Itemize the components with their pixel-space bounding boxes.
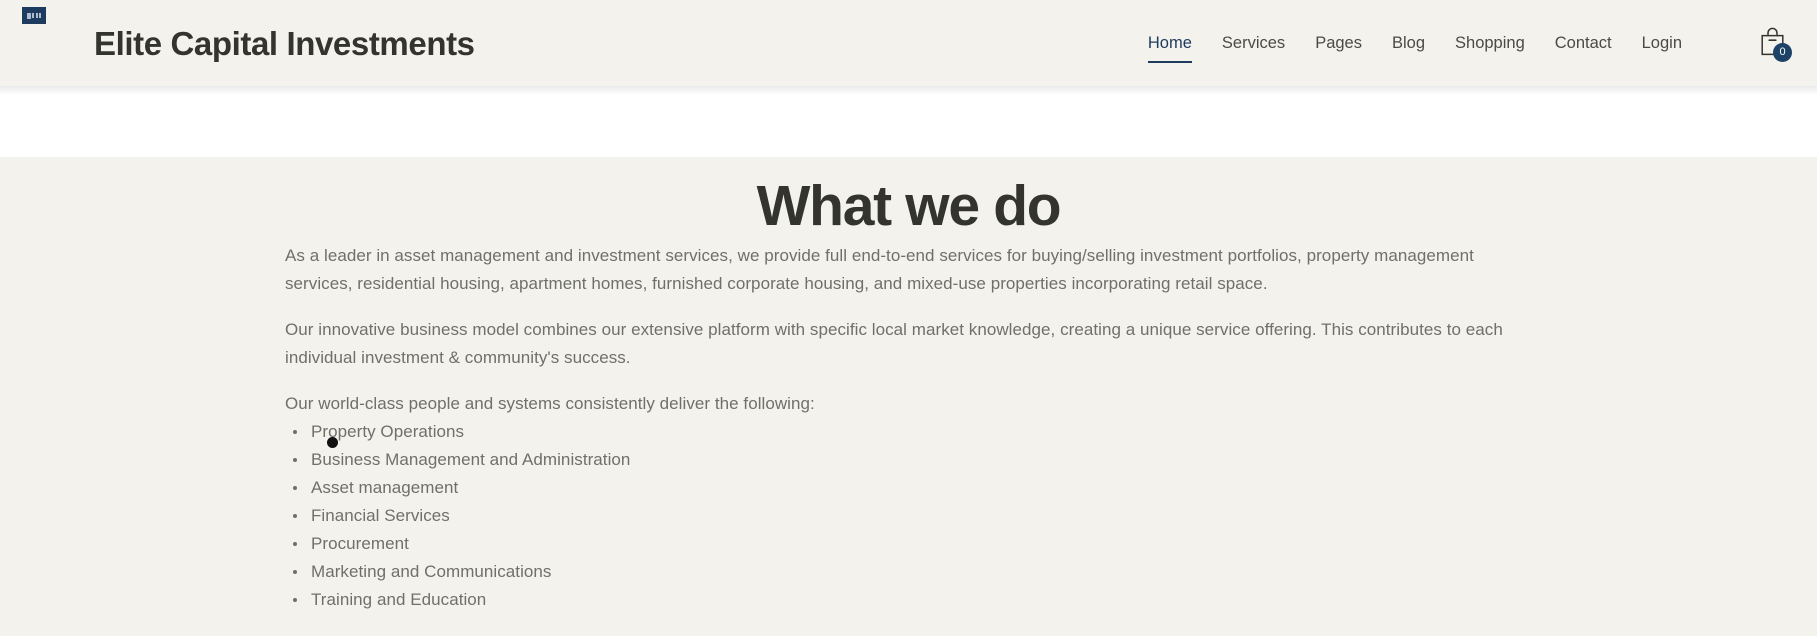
nav-item-blog[interactable]: Blog [1377, 32, 1440, 54]
list-item: Business Management and Administration [285, 446, 1536, 474]
what-we-do-section: What we do As a leader in asset manageme… [0, 157, 1817, 614]
header-spacer-band [0, 86, 1817, 157]
nav-item-shopping[interactable]: Shopping [1440, 32, 1540, 54]
header-right-cluster: Home Services Pages Blog Shopping Contac… [1133, 24, 1789, 62]
intro-paragraph-2: Our innovative business model combines o… [285, 316, 1536, 372]
list-item: Marketing and Communications [285, 558, 1536, 586]
nav-item-services[interactable]: Services [1207, 32, 1300, 54]
main-navigation: Home Services Pages Blog Shopping Contac… [1133, 32, 1697, 54]
list-item: Asset management [285, 474, 1536, 502]
list-item: Property Operations [285, 418, 1536, 446]
site-header: Elite Capital Investments Home Services … [0, 0, 1817, 86]
page-title: What we do [0, 171, 1817, 242]
content-body: As a leader in asset management and inve… [281, 242, 1536, 614]
brand-title[interactable]: Elite Capital Investments [94, 27, 475, 60]
nav-item-home[interactable]: Home [1133, 32, 1207, 54]
list-item: Procurement [285, 530, 1536, 558]
placeholder-glyph [27, 13, 42, 19]
nav-item-login[interactable]: Login [1627, 32, 1697, 54]
services-list: Property Operations Business Management … [285, 418, 1536, 614]
services-lead-in: Our world-class people and systems consi… [285, 390, 1536, 418]
list-item: Training and Education [285, 586, 1536, 614]
intro-paragraph-1: As a leader in asset management and inve… [285, 242, 1536, 298]
nav-item-pages[interactable]: Pages [1300, 32, 1377, 54]
list-item: Financial Services [285, 502, 1536, 530]
cart-button[interactable]: 0 [1755, 24, 1789, 62]
broken-image-placeholder-icon[interactable] [22, 7, 46, 24]
nav-item-contact[interactable]: Contact [1540, 32, 1627, 54]
cart-count-badge: 0 [1773, 43, 1792, 62]
